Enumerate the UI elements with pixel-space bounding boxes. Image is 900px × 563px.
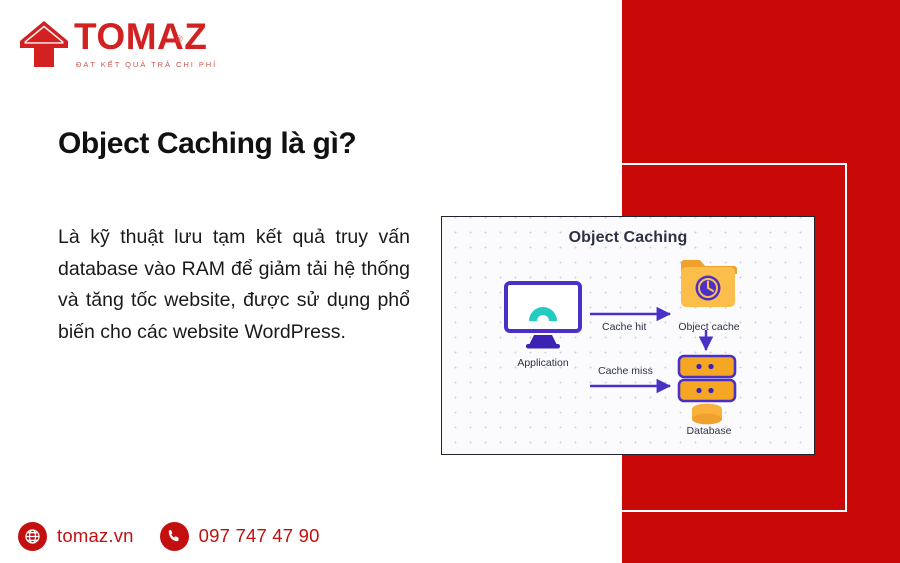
globe-icon <box>18 522 47 551</box>
registered-trademark-icon: ® <box>176 34 183 44</box>
logo-wordmark: TOMAZ <box>74 18 207 55</box>
node-object-cache <box>679 255 737 313</box>
footer-phone[interactable]: 097 747 47 90 <box>160 522 320 551</box>
node-application-label: Application <box>486 357 600 369</box>
tomaz-arrow-mark-icon <box>18 18 70 70</box>
node-database <box>677 355 739 427</box>
slide-canvas: TOMAZ ® ĐẠT KẾT QUẢ TRẢ CHI PHÍ Object C… <box>0 0 900 563</box>
phone-icon <box>160 522 189 551</box>
node-database-label: Database <box>654 425 764 437</box>
page-title: Object Caching là gì? <box>58 126 356 162</box>
body-paragraph: Là kỹ thuật lưu tạm kết quả truy vấn dat… <box>58 222 410 348</box>
object-caching-diagram: Object Caching Appli <box>441 216 815 455</box>
diagram-arrows <box>442 217 815 455</box>
footer-phone-label: 097 747 47 90 <box>199 525 320 547</box>
node-application <box>501 281 585 353</box>
brand-logo: TOMAZ ® ĐẠT KẾT QUẢ TRẢ CHI PHÍ <box>18 16 218 74</box>
footer-website[interactable]: tomaz.vn <box>18 522 134 551</box>
edge-cache-hit-label: Cache hit <box>602 321 646 333</box>
logo-tagline: ĐẠT KẾT QUẢ TRẢ CHI PHÍ <box>76 60 217 69</box>
footer-contact-bar: tomaz.vn 097 747 47 90 <box>18 518 320 554</box>
node-object-cache-label: Object cache <box>654 321 764 333</box>
footer-website-label: tomaz.vn <box>57 525 134 547</box>
edge-cache-miss-label: Cache miss <box>598 365 653 377</box>
